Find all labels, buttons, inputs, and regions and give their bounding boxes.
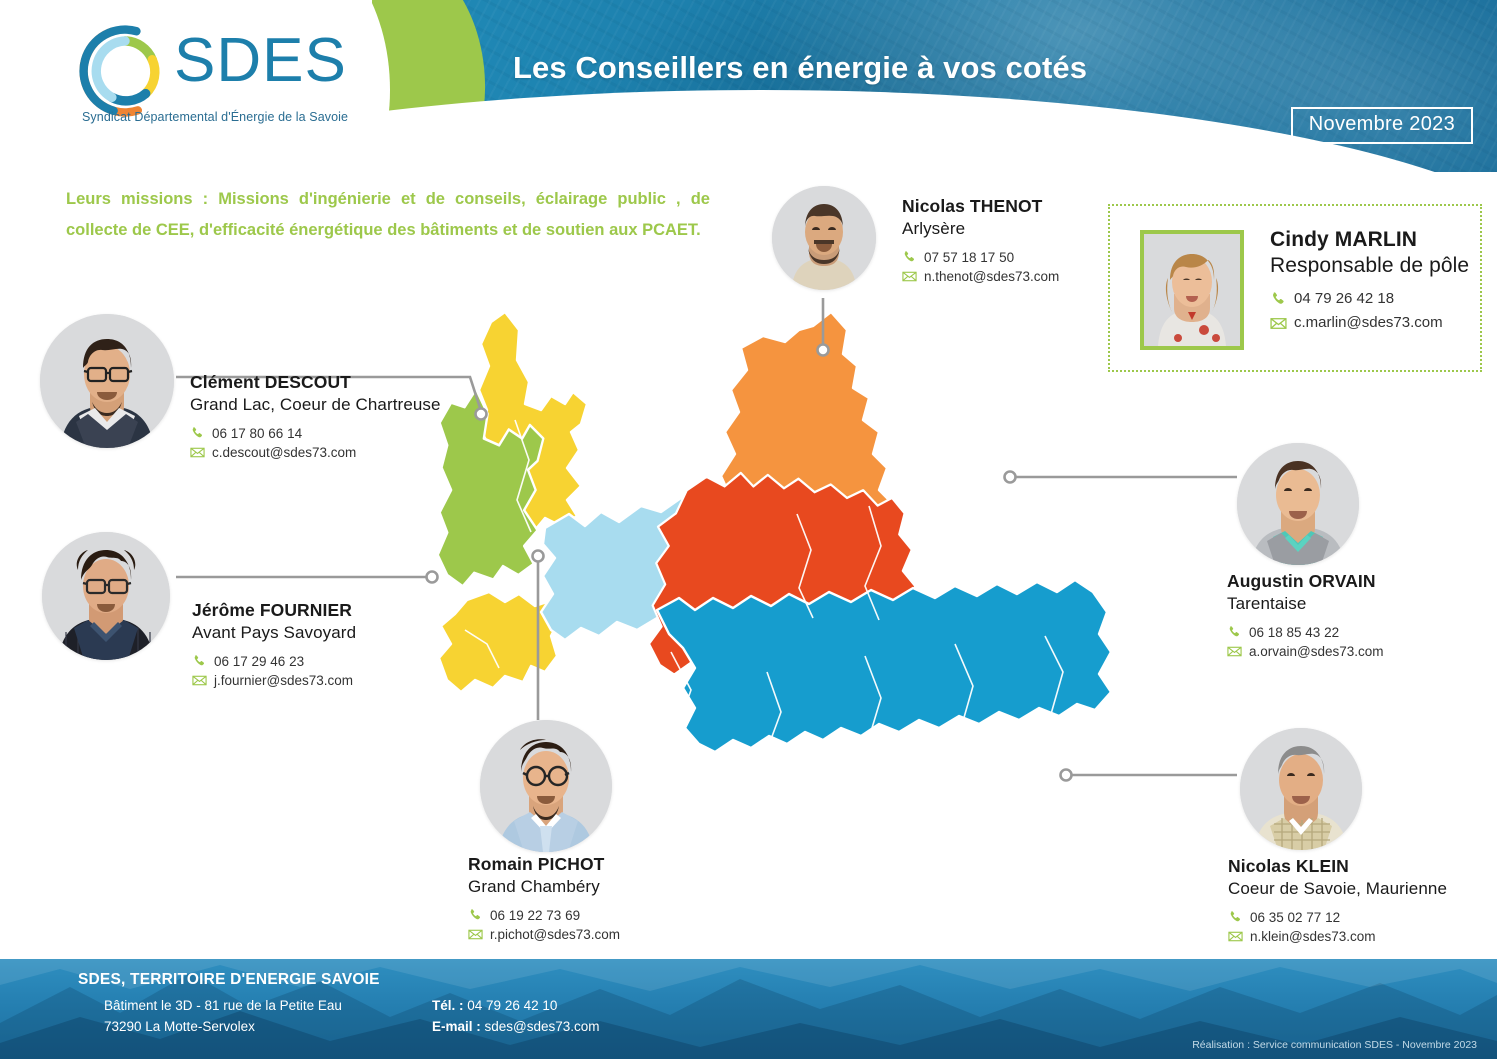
footer-tel-row: Tél. : 04 79 26 42 10 [432, 995, 600, 1016]
phone-icon [190, 426, 205, 441]
person-phone: 06 17 29 46 23 [214, 652, 304, 671]
page-header: SDES Syndicat Départemental d'Énergie de… [0, 0, 1497, 172]
person-phone-line[interactable]: 06 19 22 73 69 [468, 906, 620, 925]
footer-address: Bâtiment le 3D - 81 rue de la Petite Eau… [104, 995, 342, 1037]
page-title: Les Conseillers en énergie à vos cotés [470, 50, 1130, 86]
person-phone-line[interactable]: 06 35 02 77 12 [1228, 908, 1447, 927]
person-email: c.descout@sdes73.com [212, 443, 356, 462]
person-email: n.klein@sdes73.com [1250, 927, 1376, 946]
person-contact: 06 18 85 43 22 a.orvain@sdes73.com [1227, 623, 1384, 661]
person-name: Romain PICHOT [468, 854, 620, 875]
person-role: Coeur de Savoie, Maurienne [1228, 879, 1447, 899]
person-role: Grand Chambéry [468, 877, 620, 897]
highlight-card-marlin[interactable]: Cindy MARLIN Responsable de pôle 04 79 2… [1108, 204, 1482, 372]
person-name: Augustin ORVAIN [1227, 571, 1384, 592]
person-name: Cindy MARLIN [1270, 228, 1469, 252]
logo-wordmark: SDES [174, 30, 347, 92]
person-email: a.orvain@sdes73.com [1249, 642, 1384, 661]
person-email: j.fournier@sdes73.com [214, 671, 353, 690]
mission-statement: Leurs missions : Missions d'ingénierie e… [66, 184, 710, 246]
logo-subtitle: Syndicat Départemental d'Énergie de la S… [82, 110, 348, 124]
person-name: Nicolas KLEIN [1228, 856, 1447, 877]
person-role: Tarentaise [1227, 594, 1384, 614]
date-badge: Novembre 2023 [1291, 107, 1473, 144]
person-email: r.pichot@sdes73.com [490, 925, 620, 944]
footer-tel-label: Tél. : [432, 998, 464, 1013]
envelope-icon [1227, 644, 1242, 659]
envelope-icon [1270, 315, 1287, 332]
person-email-line[interactable]: c.marlin@sdes73.com [1270, 311, 1469, 335]
person-name: Nicolas THENOT [902, 196, 1059, 217]
person-card-orvain[interactable]: Augustin ORVAIN Tarentaise 06 18 85 43 2… [1237, 443, 1497, 673]
person-email-line[interactable]: c.descout@sdes73.com [190, 443, 441, 462]
person-role: Arlysère [902, 219, 1059, 239]
person-role: Avant Pays Savoyard [192, 623, 356, 643]
phone-icon [1228, 910, 1243, 925]
person-email-line[interactable]: r.pichot@sdes73.com [468, 925, 620, 944]
sdes-logo[interactable]: SDES Syndicat Départemental d'Énergie de… [78, 22, 378, 132]
person-card-fournier[interactable]: Jérôme FOURNIER Avant Pays Savoyard 06 1… [42, 532, 442, 712]
person-card-klein[interactable]: Nicolas KLEIN Coeur de Savoie, Maurienne… [1240, 728, 1497, 948]
footer-title: SDES, TERRITOIRE D'ENERGIE SAVOIE [78, 971, 380, 989]
avatar-marlin [1140, 230, 1244, 350]
envelope-icon [1228, 929, 1243, 944]
person-role: Responsable de pôle [1270, 254, 1469, 278]
map-region-avant-pays-savoyard-south [439, 592, 561, 692]
page-footer: SDES, TERRITOIRE D'ENERGIE SAVOIE Bâtime… [0, 959, 1497, 1059]
person-name: Clément DESCOUT [190, 372, 441, 393]
phone-icon [192, 654, 207, 669]
person-phone: 06 18 85 43 22 [1249, 623, 1339, 642]
person-contact: 06 17 29 46 23 j.fournier@sdes73.com [192, 652, 356, 690]
envelope-icon [902, 269, 917, 284]
person-contact: 06 19 22 73 69 r.pichot@sdes73.com [468, 906, 620, 944]
footer-address-line2: 73290 La Motte-Servolex [104, 1016, 342, 1037]
footer-email-label: E-mail : [432, 1019, 481, 1034]
sdes-logo-mark-icon [78, 24, 172, 118]
person-email: n.thenot@sdes73.com [924, 267, 1059, 286]
person-role: Grand Lac, Coeur de Chartreuse [190, 395, 441, 415]
person-email-line[interactable]: a.orvain@sdes73.com [1227, 642, 1384, 661]
person-phone-line[interactable]: 06 17 80 66 14 [190, 424, 441, 443]
footer-email-value: sdes@sdes73.com [485, 1019, 600, 1034]
person-phone-line[interactable]: 07 57 18 17 50 [902, 248, 1059, 267]
avatar-thenot [772, 186, 876, 290]
avatar-klein [1240, 728, 1362, 850]
avatar-orvain [1237, 443, 1359, 565]
highlight-card-text: Cindy MARLIN Responsable de pôle 04 79 2… [1270, 228, 1469, 335]
person-phone-line[interactable]: 06 18 85 43 22 [1227, 623, 1384, 642]
avatar-pichot [480, 720, 612, 852]
phone-icon [1227, 625, 1242, 640]
person-phone: 07 57 18 17 50 [924, 248, 1014, 267]
person-contact: 06 35 02 77 12 n.klein@sdes73.com [1228, 908, 1447, 946]
phone-icon [902, 250, 917, 265]
person-card-thenot[interactable]: Nicolas THENOT Arlysère 07 57 18 17 50 n… [772, 186, 1102, 306]
person-email: c.marlin@sdes73.com [1294, 311, 1443, 335]
person-contact: 06 17 80 66 14 c.descout@sdes73.com [190, 424, 441, 462]
person-phone: 06 17 80 66 14 [212, 424, 302, 443]
envelope-icon [192, 673, 207, 688]
person-contact: 07 57 18 17 50 n.thenot@sdes73.com [902, 248, 1059, 286]
footer-contact: Tél. : 04 79 26 42 10 E-mail : sdes@sdes… [432, 995, 600, 1037]
person-phone: 04 79 26 42 18 [1294, 287, 1394, 311]
avatar-fournier [42, 532, 170, 660]
infographic-page: SDES Syndicat Départemental d'Énergie de… [0, 0, 1497, 1059]
person-phone: 06 35 02 77 12 [1250, 908, 1340, 927]
person-phone-line[interactable]: 06 17 29 46 23 [192, 652, 356, 671]
person-card-pichot[interactable]: Romain PICHOT Grand Chambéry 06 19 22 73… [468, 720, 798, 940]
avatar-descout [40, 314, 174, 448]
footer-credit: Réalisation : Service communication SDES… [1192, 1039, 1477, 1051]
person-name: Jérôme FOURNIER [192, 600, 356, 621]
person-email-line[interactable]: j.fournier@sdes73.com [192, 671, 356, 690]
person-contact: 04 79 26 42 18 c.marlin@sdes73.com [1270, 287, 1469, 335]
person-email-line[interactable]: n.thenot@sdes73.com [902, 267, 1059, 286]
footer-address-line1: Bâtiment le 3D - 81 rue de la Petite Eau [104, 995, 342, 1016]
person-card-descout[interactable]: Clément DESCOUT Grand Lac, Coeur de Char… [40, 314, 460, 494]
phone-icon [1270, 291, 1287, 308]
footer-email-row: E-mail : sdes@sdes73.com [432, 1016, 600, 1037]
envelope-icon [190, 445, 205, 460]
phone-icon [468, 908, 483, 923]
person-phone-line[interactable]: 04 79 26 42 18 [1270, 287, 1469, 311]
person-phone: 06 19 22 73 69 [490, 906, 580, 925]
person-email-line[interactable]: n.klein@sdes73.com [1228, 927, 1447, 946]
footer-tel-value: 04 79 26 42 10 [467, 998, 557, 1013]
envelope-icon [468, 927, 483, 942]
